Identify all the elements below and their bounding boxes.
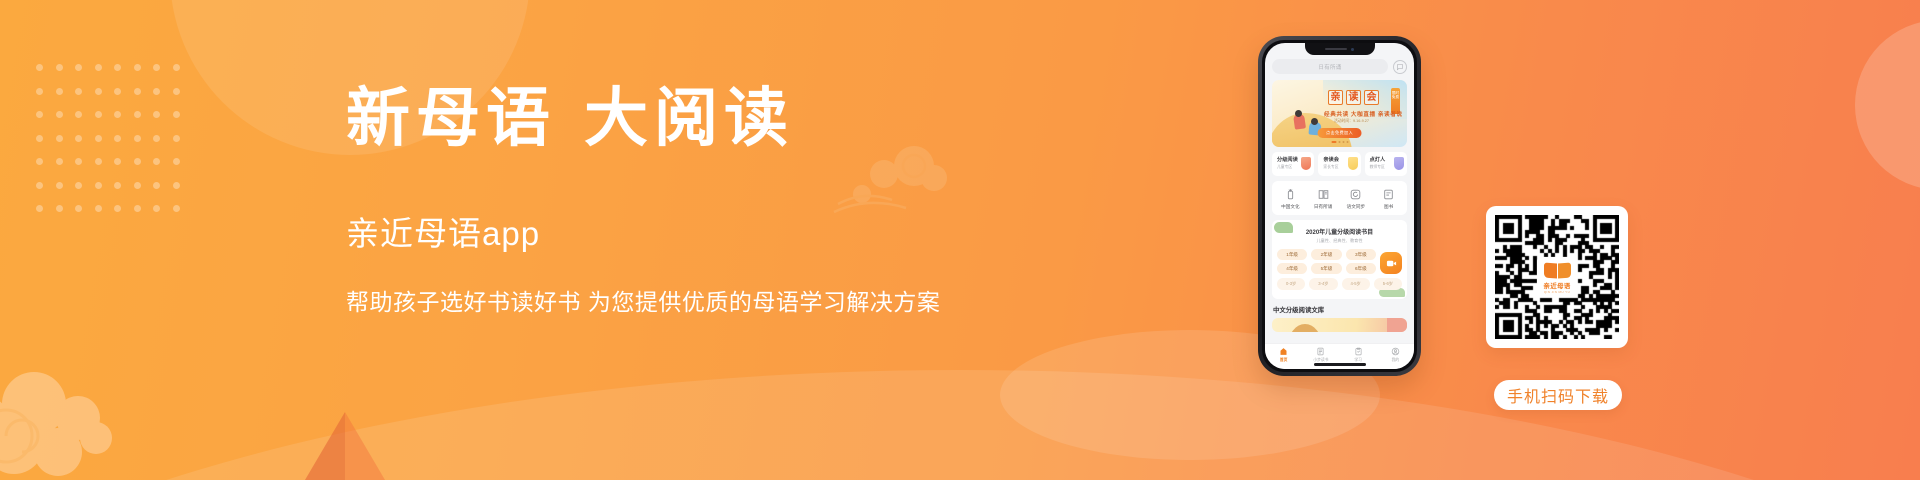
hero-subtitle: 经典共读 大咖直播 亲读者说	[1324, 110, 1403, 118]
decor-dot-grid	[36, 64, 173, 209]
phone-home-indicator	[1314, 363, 1366, 366]
hero-date: 活动时间：9.16-9.27	[1334, 119, 1369, 124]
decor-cloud-bottom-left	[0, 352, 164, 480]
grade-pill[interactable]: 5年级	[1311, 263, 1341, 274]
brand-name: 亲近母语	[1543, 280, 1570, 290]
quick-link-sync[interactable]: 语文同步	[1340, 187, 1373, 210]
decor-triangle-shadow	[305, 412, 345, 480]
quick-link-label: 语文同步	[1340, 204, 1373, 210]
video-play-icon[interactable]	[1380, 252, 1402, 274]
hero-title: 亲 读 会	[1328, 90, 1379, 105]
tab-label: 我的	[1377, 358, 1414, 363]
tab-label: 首页	[1265, 358, 1302, 363]
quick-link-recite[interactable]: 日有所诵	[1307, 187, 1340, 210]
phone-notch	[1305, 43, 1375, 55]
library-card[interactable]	[1272, 318, 1407, 332]
reading-icon	[1302, 346, 1339, 357]
age-pill[interactable]: 4-5岁	[1342, 278, 1370, 289]
recite-icon	[1307, 187, 1340, 202]
headline-part-2: 大阅读	[584, 81, 794, 156]
phone-mockup: 日有所诵	[1258, 36, 1421, 376]
tab-home[interactable]: 首页	[1265, 346, 1302, 363]
banner-copy: 新母语大阅读 亲近母语app 帮助孩子选好书读好书 为您提供优质的母语学习解决方…	[346, 86, 1026, 317]
quick-link-culture[interactable]: 中国文化	[1274, 187, 1307, 210]
bookmark-icon	[1394, 157, 1404, 170]
study-icon	[1340, 346, 1377, 357]
quick-link-books[interactable]: 图书	[1372, 187, 1405, 210]
category-card-parent-club[interactable]: 亲读会 家长专区	[1318, 152, 1360, 176]
page-title: 新母语大阅读	[346, 86, 1026, 151]
app-hero-banner[interactable]: 亲 读 会 限时免费 经典共读 大咖直播 亲读者说 活动时间：9.16-9.27…	[1272, 80, 1407, 147]
grade-pill[interactable]: 1年级	[1277, 249, 1307, 260]
app-quick-links: 中国文化 日有所诵	[1272, 181, 1407, 215]
banner-tagline: 帮助孩子选好书读好书 为您提供优质的母语学习解决方案	[346, 283, 1026, 317]
grade-pill[interactable]: 4年级	[1277, 263, 1307, 274]
book-logo-icon	[1544, 263, 1571, 278]
app-search-row: 日有所诵	[1272, 59, 1407, 74]
app-booklist-card: 2020年儿童分级阅读书目 儿童性、经典性、教育性 1年级 2年级 3年级	[1272, 220, 1407, 299]
search-input[interactable]: 日有所诵	[1272, 59, 1388, 74]
quick-link-label: 日有所诵	[1307, 204, 1340, 210]
headline-part-1: 新母语	[346, 81, 556, 156]
hero-title-char: 亲	[1328, 90, 1343, 105]
decor-circle-top-right	[1855, 20, 1920, 190]
age-pill[interactable]: 5-6岁	[1374, 278, 1402, 289]
quick-link-label: 图书	[1372, 204, 1405, 210]
grade-pill[interactable]: 6年级	[1346, 263, 1376, 274]
tab-reading[interactable]: 小步读书	[1302, 346, 1339, 363]
library-section-title: 中文分级阅读文库	[1272, 305, 1407, 314]
phone-screen: 日有所诵	[1265, 43, 1414, 369]
download-button-label: 手机扫码下载	[1507, 383, 1609, 407]
app-category-cards: 分级阅读 儿童专区 亲读会 家长专区 点灯人 教师专区	[1272, 152, 1407, 176]
booklist-title: 2020年儿童分级阅读书目	[1277, 227, 1402, 236]
book-icon	[1372, 187, 1405, 202]
message-icon[interactable]	[1393, 60, 1407, 74]
bookmark-icon	[1348, 157, 1358, 170]
decor-ground-curve	[0, 370, 1920, 480]
tab-label: 学习	[1340, 358, 1377, 363]
tab-study[interactable]: 学习	[1340, 346, 1377, 363]
culture-icon	[1274, 187, 1307, 202]
quick-link-label: 中国文化	[1274, 204, 1307, 210]
search-placeholder: 日有所诵	[1318, 63, 1341, 71]
hero-cta-button[interactable]: 点击免费加入	[1317, 128, 1362, 138]
hero-title-char: 会	[1364, 90, 1379, 105]
booklist-subtitle: 儿童性、经典性、教育性	[1277, 238, 1402, 244]
app-name: 亲近母语app	[346, 207, 1026, 255]
age-pill[interactable]: 3-4岁	[1309, 278, 1337, 289]
category-card-teacher[interactable]: 点灯人 教师专区	[1365, 152, 1407, 176]
grade-pill[interactable]: 2年级	[1311, 249, 1341, 260]
carousel-dots[interactable]	[1331, 141, 1348, 143]
sync-icon	[1340, 187, 1373, 202]
promo-banner: 新母语大阅读 亲近母语app 帮助孩子选好书读好书 为您提供优质的母语学习解决方…	[0, 0, 1920, 480]
brand-logo: 亲近母语 QIN JIN MU YU	[1537, 257, 1577, 297]
grade-pill[interactable]: 3年级	[1346, 249, 1376, 260]
tab-label: 小步读书	[1302, 358, 1339, 363]
age-pill[interactable]: 0-3岁	[1277, 278, 1305, 289]
bookmark-icon	[1301, 157, 1311, 170]
tab-profile[interactable]: 我的	[1377, 346, 1414, 363]
brand-name-pinyin: QIN JIN MU YU	[1544, 290, 1570, 294]
hero-title-char: 读	[1346, 90, 1361, 105]
qr-code-panel: 亲近母语 QIN JIN MU YU	[1486, 206, 1628, 348]
home-icon	[1265, 346, 1302, 357]
download-button[interactable]: 手机扫码下载	[1494, 380, 1622, 410]
category-card-graded-reading[interactable]: 分级阅读 儿童专区	[1272, 152, 1314, 176]
profile-icon	[1377, 346, 1414, 357]
